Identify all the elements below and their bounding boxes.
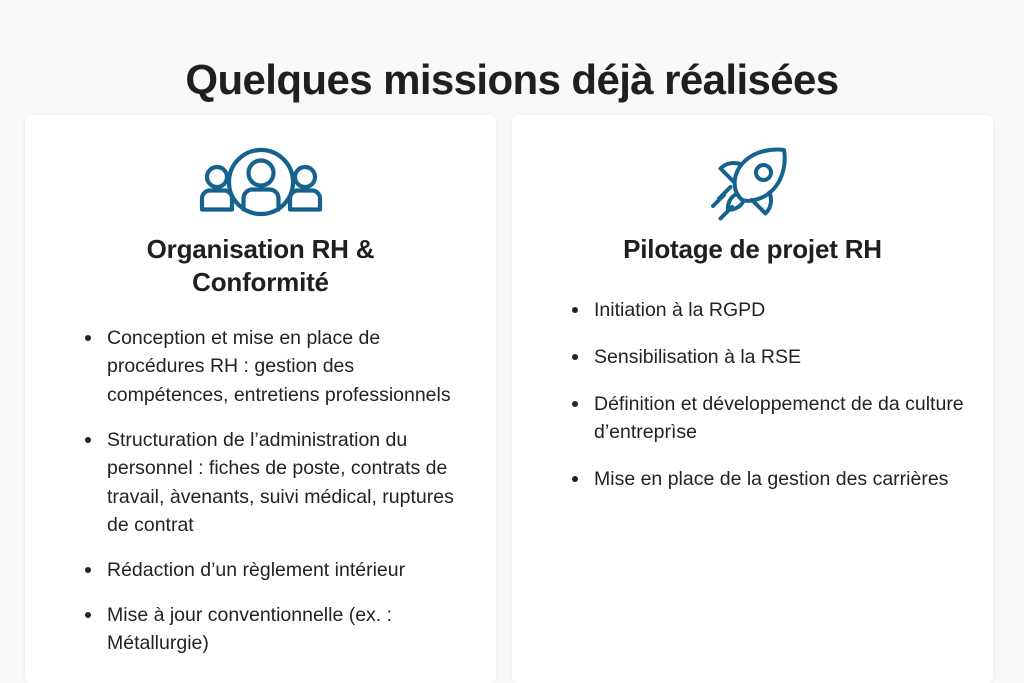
list-item: Initiation à la RGPD <box>572 296 967 325</box>
card-heading-line-1: Organisation RH & <box>147 234 375 264</box>
list-item: Rédaction d’un règlement intérieur <box>85 556 470 585</box>
card-heading-organisation: Organisation RH & Conformité <box>51 233 470 300</box>
card-pilotage-de-projet-rh: Pilotage de projet RH Initiation à la RG… <box>512 115 993 683</box>
list-item: Conception et mise en place de procédure… <box>85 324 470 410</box>
card-heading-line-2: Conformité <box>192 267 329 297</box>
rocket-icon <box>538 147 967 225</box>
list-item: Structuration de l’administration du per… <box>85 426 470 541</box>
list-item: Sensibilisation à la RSE <box>572 343 967 372</box>
cards-row: Organisation RH & Conformité Conception … <box>25 115 999 683</box>
slide-container: Quelques missions déjà réalisées Organis… <box>0 0 1024 683</box>
card-organisation-rh-conformite: Organisation RH & Conformité Conception … <box>25 115 496 683</box>
page-title: Quelques missions déjà réalisées <box>0 56 1024 104</box>
card-heading-pilotage: Pilotage de projet RH <box>538 233 967 266</box>
people-group-icon <box>51 147 470 225</box>
bullet-list-pilotage: Initiation à la RGPD Sensibilisation à l… <box>538 296 967 493</box>
bullet-list-organisation: Conception et mise en place de procédure… <box>51 324 470 659</box>
list-item: Mise à jour conventionnelle (ex. : Métal… <box>85 601 470 658</box>
list-item: Définition et développemenct de da cultu… <box>572 390 967 447</box>
list-item: Mise en place de la gestion des carrière… <box>572 465 967 494</box>
